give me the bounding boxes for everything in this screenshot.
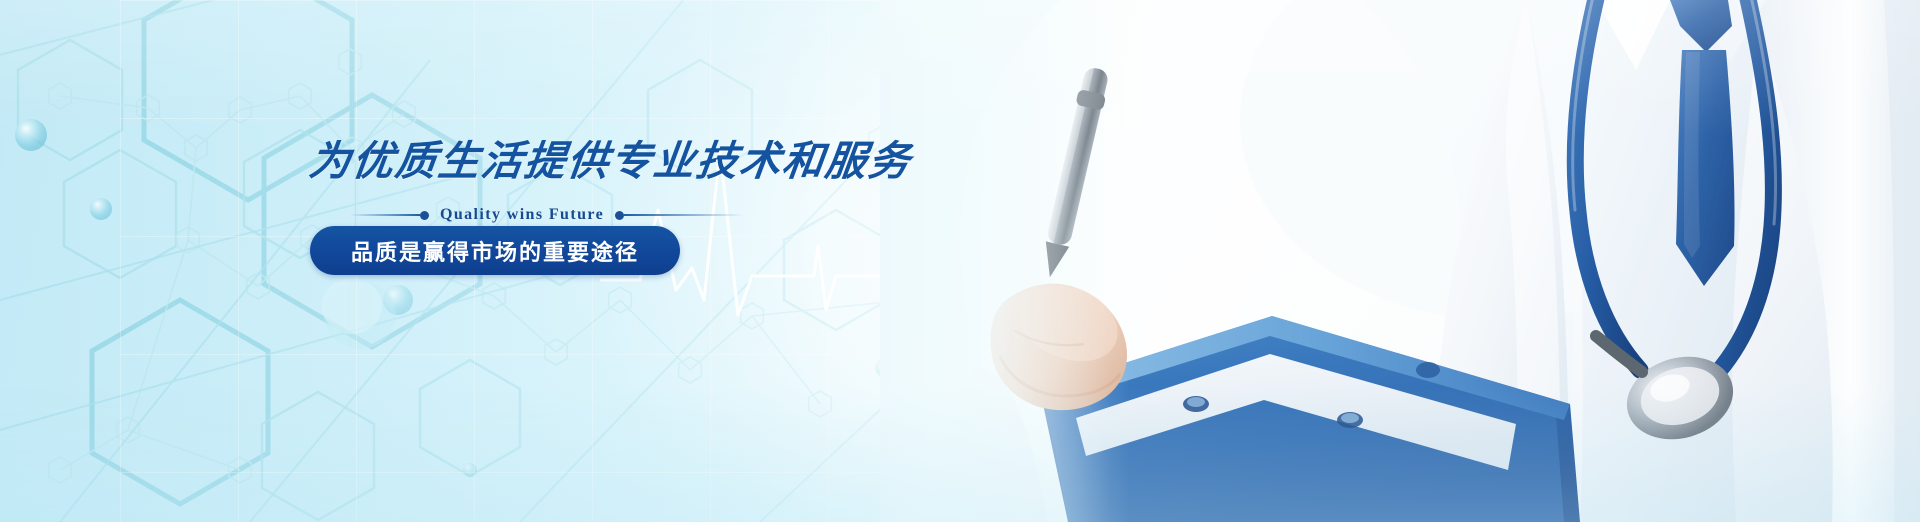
tagline-rule-right: [624, 214, 744, 216]
slogan-button[interactable]: 品质是赢得市场的重要途径: [310, 226, 680, 275]
tagline-dot-right-icon: [615, 211, 624, 220]
banner-text-block: 为优质生活提供专业技术和服务 Quality wins Future 品质是赢得…: [310, 0, 1010, 522]
tagline-rule-left: [350, 214, 420, 216]
tagline-dot-left-icon: [420, 211, 429, 220]
tagline-text: Quality wins Future: [429, 206, 615, 224]
healthcare-banner: 为优质生活提供专业技术和服务 Quality wins Future 品质是赢得…: [0, 0, 1920, 522]
page-title: 为优质生活提供专业技术和服务: [306, 127, 915, 187]
tagline-row: Quality wins Future: [350, 203, 950, 227]
slogan-button-label: 品质是赢得市场的重要途径: [351, 235, 639, 267]
